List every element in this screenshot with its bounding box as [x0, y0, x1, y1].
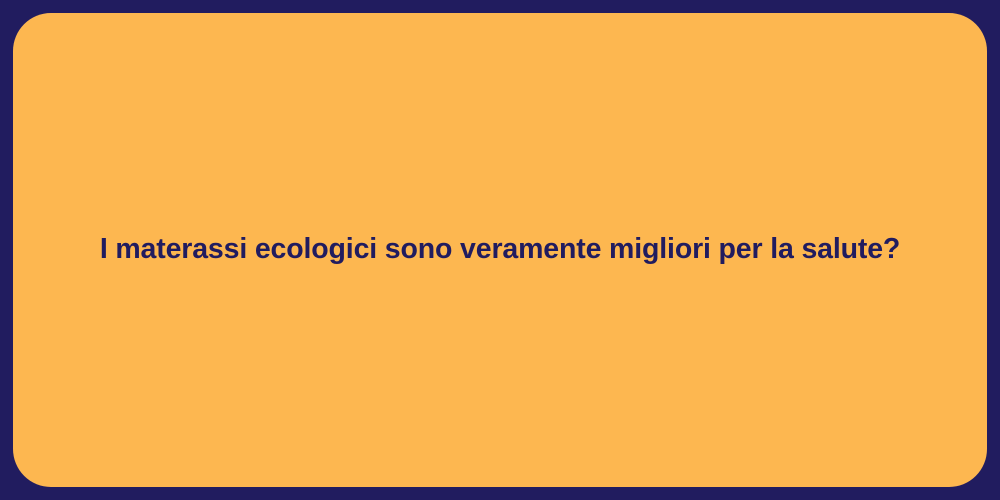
page-title: I materassi ecologici sono veramente mig… — [13, 232, 987, 268]
headline-card: I materassi ecologici sono veramente mig… — [13, 13, 987, 487]
page-frame: I materassi ecologici sono veramente mig… — [0, 0, 1000, 500]
